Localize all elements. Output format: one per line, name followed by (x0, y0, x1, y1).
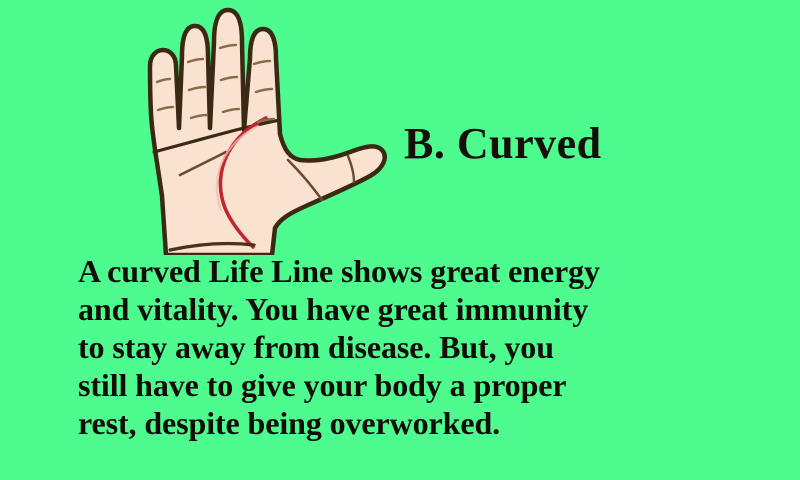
hand-outline-shape (150, 10, 385, 255)
page-title: B. Curved (404, 118, 602, 170)
description-line: and vitality. You have great immunity (78, 290, 758, 328)
hand-svg (120, 0, 390, 255)
description-line: A curved Life Line shows great energy (78, 252, 758, 290)
description-line: still have to give your body a proper (78, 366, 758, 404)
description-paragraph: A curved Life Line shows great energy an… (78, 252, 758, 442)
description-line: to stay away from disease. But, you (78, 328, 758, 366)
open-palm-hand-illustration (120, 0, 390, 255)
poster-canvas: B. Curved A curved Life Line shows great… (0, 0, 800, 480)
description-line: rest, despite being overworked. (78, 404, 758, 442)
